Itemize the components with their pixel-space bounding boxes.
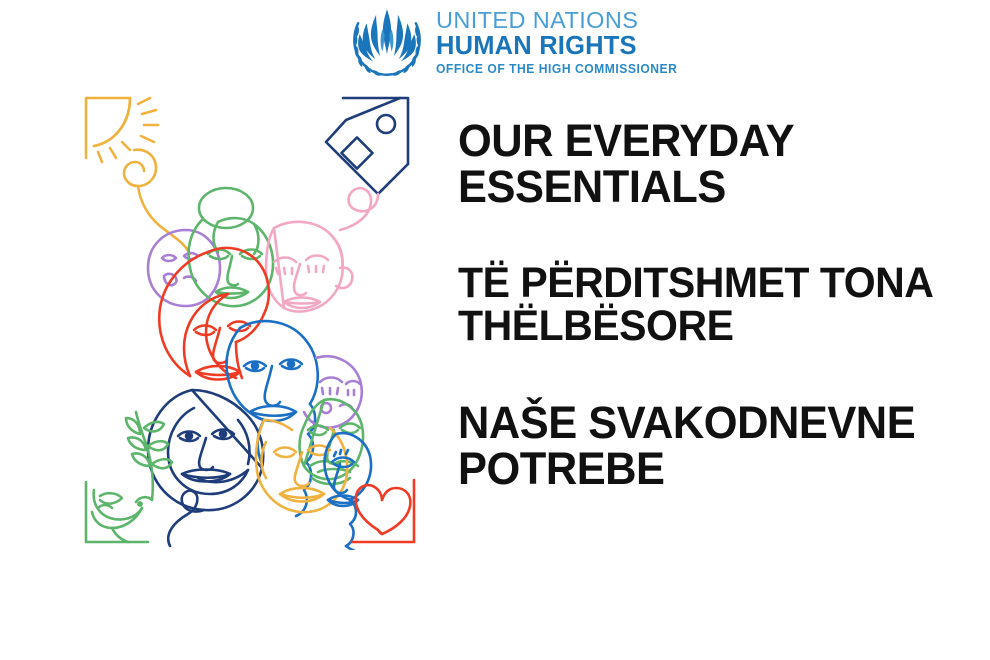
logo-line-office-high-commissioner: OFFICE OF THE HIGH COMMISSIONER	[436, 63, 677, 76]
sun-icon	[86, 98, 158, 186]
poster-canvas: UNITED NATIONS HUMAN RIGHTS OFFICE OF TH…	[0, 0, 990, 660]
dove-olive-branch-icon	[86, 412, 172, 542]
headline-serbian: NAŠE SVAKODNEVNE POTREBE	[458, 400, 973, 492]
headline-albanian: TË PËRDITSHMET TONA THËLBËSORE	[458, 262, 973, 349]
heart-icon	[352, 480, 414, 542]
logo-line-united-nations: UNITED NATIONS	[436, 9, 687, 33]
logo-line-human-rights: HUMAN RIGHTS	[436, 34, 687, 60]
un-human-rights-logo: UNITED NATIONS HUMAN RIGHTS OFFICE OF TH…	[348, 6, 687, 78]
un-human-rights-flame-emblem	[348, 6, 426, 78]
logo-wordmark: UNITED NATIONS HUMAN RIGHTS OFFICE OF TH…	[436, 9, 687, 76]
headline-english: OUR EVERYDAY ESSENTIALS	[458, 118, 973, 210]
diverse-faces-line-art	[78, 90, 423, 550]
tag-icon	[326, 98, 408, 194]
headline-block: OUR EVERYDAY ESSENTIALS TË PËRDITSHMET T…	[458, 118, 990, 492]
